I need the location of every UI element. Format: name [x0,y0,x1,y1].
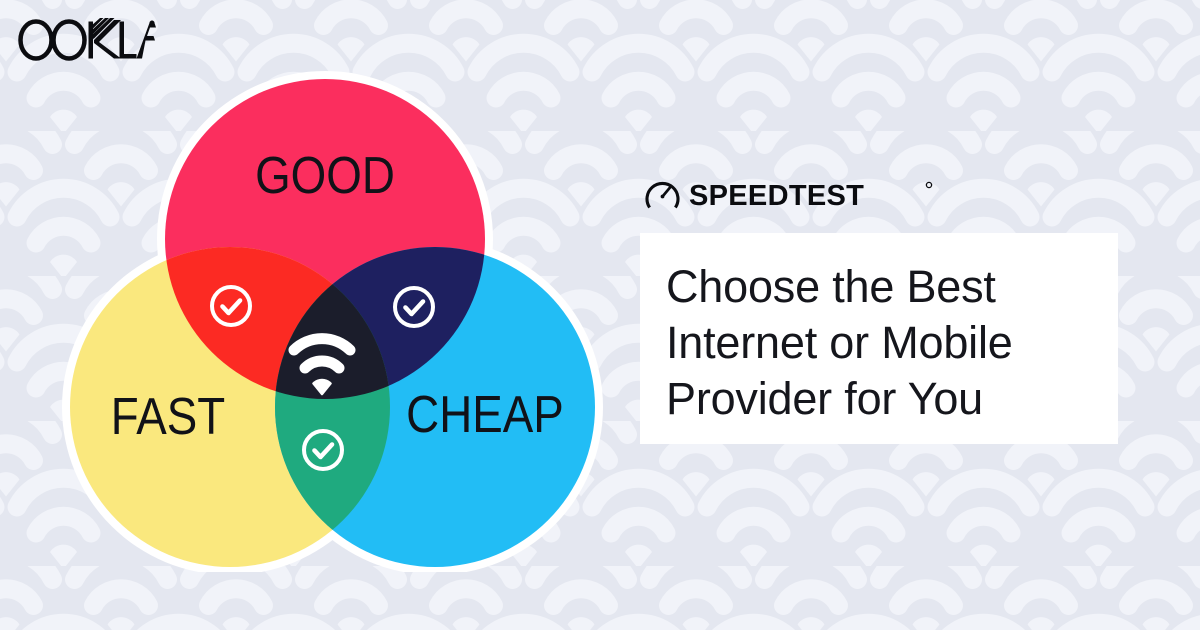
registered-trademark-icon [926,182,931,187]
poster-canvas: GOOD FAST CHEAP SPEE [0,0,1200,630]
ookla-logo[interactable] [16,18,156,62]
speedtest-wordmark: SPEEDTEST [689,180,864,212]
venn-label-fast: FAST [111,388,225,445]
speedtest-logo[interactable]: SPEEDTEST [645,175,935,215]
venn-diagram: GOOD FAST CHEAP [55,62,610,572]
headline-line-1: Choose the Best [666,259,1088,315]
headline-line-2: Internet or Mobile [666,315,1088,371]
speedometer-gauge-icon [647,183,678,207]
venn-label-good: GOOD [255,147,395,204]
headline-line-3: Provider for You [666,371,1088,427]
venn-label-cheap: CHEAP [406,386,564,443]
headline-card: Choose the Best Internet or Mobile Provi… [640,233,1118,444]
